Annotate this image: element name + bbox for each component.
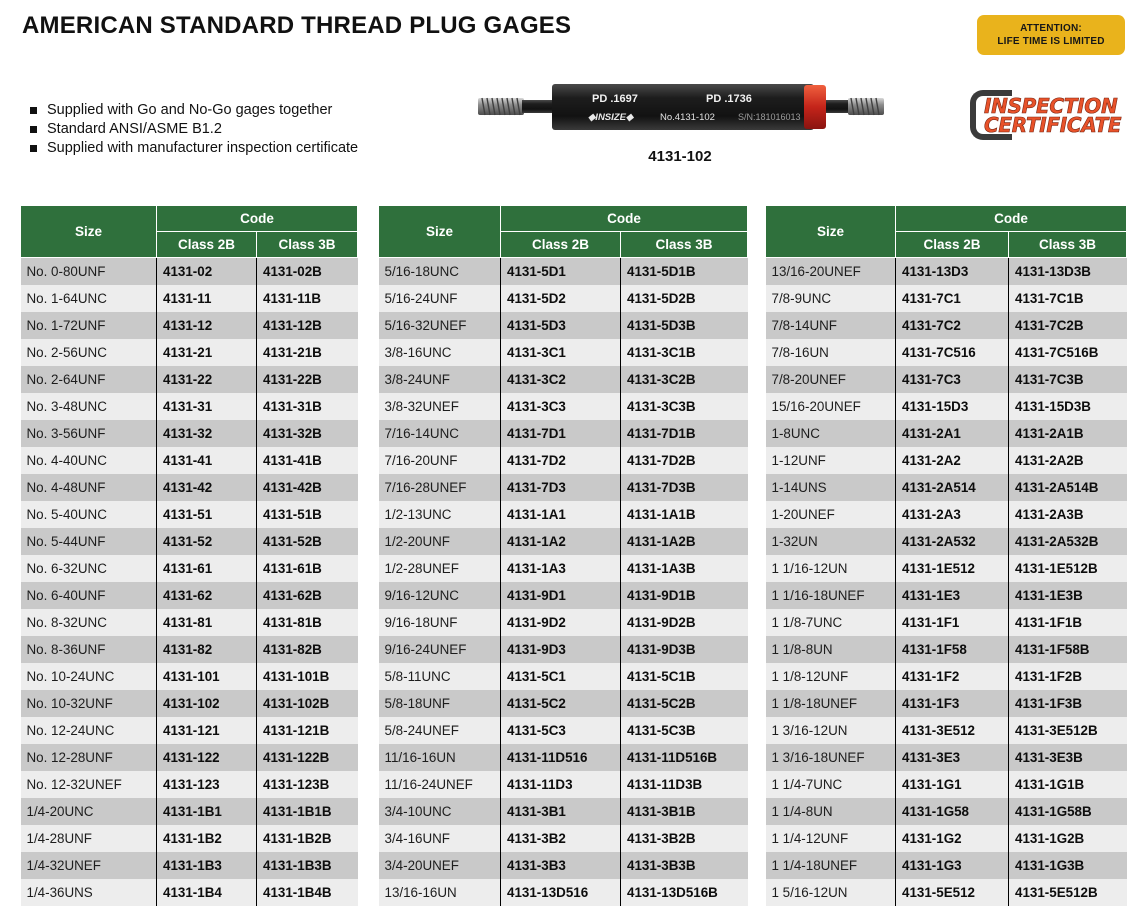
cell-code-class-3b: 4131-32B xyxy=(257,420,358,447)
cell-code-class-2b: 4131-9D3 xyxy=(501,636,621,663)
table-row: 7/16-20UNF4131-7D24131-7D2B xyxy=(379,447,748,474)
cell-code-class-2b: 4131-121 xyxy=(157,717,257,744)
table-row: 1 1/16-12UN4131-1E5124131-1E512B xyxy=(766,555,1127,582)
cell-code-class-2b: 4131-1A3 xyxy=(501,555,621,582)
cell-code-class-3b: 4131-1B1B xyxy=(257,798,358,825)
table-row: No. 1-72UNF4131-124131-12B xyxy=(21,312,358,339)
cell-code-class-3b: 4131-13D3B xyxy=(1009,258,1127,286)
cell-size: 5/16-24UNF xyxy=(379,285,501,312)
cell-code-class-3b: 4131-1F1B xyxy=(1009,609,1127,636)
table-row: No. 12-28UNF4131-1224131-122B xyxy=(21,744,358,771)
cell-code-class-3b: 4131-1A2B xyxy=(621,528,748,555)
cell-code-class-3b: 4131-7D2B xyxy=(621,447,748,474)
table-row: 3/8-24UNF4131-3C24131-3C2B xyxy=(379,366,748,393)
cell-code-class-2b: 4131-1A2 xyxy=(501,528,621,555)
cell-code-class-3b: 4131-1B4B xyxy=(257,879,358,906)
table-row: 1 1/4-7UNC4131-1G14131-1G1B xyxy=(766,771,1127,798)
feature-text: Standard ANSI/ASME B1.2 xyxy=(47,121,222,137)
cell-code-class-2b: 4131-1A1 xyxy=(501,501,621,528)
cell-code-class-3b: 4131-7D3B xyxy=(621,474,748,501)
cell-size: 1 3/16-12UN xyxy=(766,717,896,744)
cell-code-class-2b: 4131-31 xyxy=(157,393,257,420)
table-row: No. 4-40UNC4131-414131-41B xyxy=(21,447,358,474)
table-row: 1 3/16-12UN4131-3E5124131-3E512B xyxy=(766,717,1127,744)
table-row: No. 5-44UNF4131-524131-52B xyxy=(21,528,358,555)
cell-code-class-2b: 4131-1G1 xyxy=(896,771,1009,798)
column-header-code: Code xyxy=(501,206,748,232)
cell-code-class-2b: 4131-3E512 xyxy=(896,717,1009,744)
cell-code-class-2b: 4131-1F3 xyxy=(896,690,1009,717)
cell-size: No. 2-64UNF xyxy=(21,366,157,393)
table-row: No. 5-40UNC4131-514131-51B xyxy=(21,501,358,528)
cell-code-class-3b: 4131-1E512B xyxy=(1009,555,1127,582)
cell-code-class-3b: 4131-7C3B xyxy=(1009,366,1127,393)
table-row: 1/4-28UNF4131-1B24131-1B2B xyxy=(21,825,358,852)
column-header-class-3b: Class 3B xyxy=(257,232,358,258)
product-figure: PD .1697 PD .1736 ◆INSIZE◆ No.4131-102 S… xyxy=(470,76,890,172)
cell-code-class-3b: 4131-5C2B xyxy=(621,690,748,717)
table-row: No. 6-32UNC4131-614131-61B xyxy=(21,555,358,582)
cell-size: No. 8-36UNF xyxy=(21,636,157,663)
table-row: 7/16-28UNEF4131-7D34131-7D3B xyxy=(379,474,748,501)
table-body: 5/16-18UNC4131-5D14131-5D1B5/16-24UNF413… xyxy=(379,258,748,906)
cell-size: 7/16-14UNC xyxy=(379,420,501,447)
cell-code-class-2b: 4131-11 xyxy=(157,285,257,312)
table-row: 3/4-10UNC4131-3B14131-3B1B xyxy=(379,798,748,825)
cell-code-class-2b: 4131-5D2 xyxy=(501,285,621,312)
table-row: No. 3-56UNF4131-324131-32B xyxy=(21,420,358,447)
table-row: No. 8-32UNC4131-814131-81B xyxy=(21,609,358,636)
cell-code-class-3b: 4131-123B xyxy=(257,771,358,798)
cell-size: No. 0-80UNF xyxy=(21,258,157,286)
cell-code-class-3b: 4131-41B xyxy=(257,447,358,474)
cell-code-class-3b: 4131-2A514B xyxy=(1009,474,1127,501)
cell-code-class-3b: 4131-1G1B xyxy=(1009,771,1127,798)
cell-code-class-3b: 4131-3B3B xyxy=(621,852,748,879)
left-thread-segment xyxy=(478,98,524,115)
cell-code-class-2b: 4131-1B4 xyxy=(157,879,257,906)
cell-size: 1/4-36UNS xyxy=(21,879,157,906)
cell-code-class-2b: 4131-11D3 xyxy=(501,771,621,798)
cell-code-class-2b: 4131-41 xyxy=(157,447,257,474)
marking-serial: S/N:181016013 xyxy=(738,112,801,122)
cell-code-class-3b: 4131-3C1B xyxy=(621,339,748,366)
cell-code-class-2b: 4131-9D1 xyxy=(501,582,621,609)
cell-code-class-2b: 4131-102 xyxy=(157,690,257,717)
table-row: No. 2-64UNF4131-224131-22B xyxy=(21,366,358,393)
cell-size: 7/16-28UNEF xyxy=(379,474,501,501)
table-row: No. 8-36UNF4131-824131-82B xyxy=(21,636,358,663)
cell-size: No. 6-32UNC xyxy=(21,555,157,582)
cell-code-class-3b: 4131-101B xyxy=(257,663,358,690)
cell-code-class-3b: 4131-31B xyxy=(257,393,358,420)
cell-code-class-3b: 4131-1F3B xyxy=(1009,690,1127,717)
attention-badge: ATTENTION: LIFE TIME IS LIMITED xyxy=(977,15,1125,55)
cell-code-class-2b: 4131-7C1 xyxy=(896,285,1009,312)
cell-code-class-2b: 4131-3C3 xyxy=(501,393,621,420)
cell-code-class-3b: 4131-11D3B xyxy=(621,771,748,798)
cell-code-class-2b: 4131-9D2 xyxy=(501,609,621,636)
table-row: 1 5/16-12UN4131-5E5124131-5E512B xyxy=(766,879,1127,906)
cell-code-class-3b: 4131-82B xyxy=(257,636,358,663)
table-row: No. 2-56UNC4131-214131-21B xyxy=(21,339,358,366)
cell-size: 1 1/4-8UN xyxy=(766,798,896,825)
table-row: 1 1/8-8UN4131-1F584131-1F58B xyxy=(766,636,1127,663)
table-row: 1/2-20UNF4131-1A24131-1A2B xyxy=(379,528,748,555)
cell-code-class-3b: 4131-1G58B xyxy=(1009,798,1127,825)
cell-code-class-2b: 4131-1B2 xyxy=(157,825,257,852)
feature-text: Supplied with manufacturer inspection ce… xyxy=(47,140,358,156)
cell-size: 1 1/8-12UNF xyxy=(766,663,896,690)
cell-code-class-2b: 4131-13D516 xyxy=(501,879,621,906)
cell-code-class-2b: 4131-11D516 xyxy=(501,744,621,771)
cell-code-class-3b: 4131-15D3B xyxy=(1009,393,1127,420)
cell-code-class-3b: 4131-1F58B xyxy=(1009,636,1127,663)
cell-size: No. 5-44UNF xyxy=(21,528,157,555)
marking-pd-left: PD .1697 xyxy=(592,93,638,105)
cell-code-class-2b: 4131-32 xyxy=(157,420,257,447)
column-header-class-3b: Class 3B xyxy=(1009,232,1127,258)
cell-code-class-2b: 4131-1B1 xyxy=(157,798,257,825)
cell-size: 1-14UNS xyxy=(766,474,896,501)
table-row: 5/16-32UNEF4131-5D34131-5D3B xyxy=(379,312,748,339)
column-header-size: Size xyxy=(21,206,157,258)
cell-code-class-2b: 4131-62 xyxy=(157,582,257,609)
gage-code-table-3: Size Code Class 2B Class 3B 13/16-20UNEF… xyxy=(765,205,1127,906)
cell-code-class-2b: 4131-3B1 xyxy=(501,798,621,825)
cell-size: 1/2-20UNF xyxy=(379,528,501,555)
table-body: 13/16-20UNEF4131-13D34131-13D3B7/8-9UNC4… xyxy=(766,258,1127,906)
cell-code-class-3b: 4131-3E3B xyxy=(1009,744,1127,771)
column-header-class-2b: Class 2B xyxy=(157,232,257,258)
cell-size: 7/16-20UNF xyxy=(379,447,501,474)
cell-code-class-3b: 4131-1B2B xyxy=(257,825,358,852)
cell-code-class-2b: 4131-7D1 xyxy=(501,420,621,447)
cell-code-class-3b: 4131-1F2B xyxy=(1009,663,1127,690)
table-row: No. 1-64UNC4131-114131-11B xyxy=(21,285,358,312)
cell-size: 7/8-14UNF xyxy=(766,312,896,339)
right-thread-segment xyxy=(848,98,884,115)
cell-code-class-2b: 4131-3B2 xyxy=(501,825,621,852)
feature-list: Supplied with Go and No-Go gages togethe… xyxy=(30,101,358,158)
cell-size: 1 5/16-12UN xyxy=(766,879,896,906)
table-row: 1 3/16-18UNEF4131-3E34131-3E3B xyxy=(766,744,1127,771)
gage-code-table-2: Size Code Class 2B Class 3B 5/16-18UNC41… xyxy=(378,205,748,906)
table-row: 1 1/4-12UNF4131-1G24131-1G2B xyxy=(766,825,1127,852)
cell-code-class-2b: 4131-1F58 xyxy=(896,636,1009,663)
cell-code-class-3b: 4131-1A3B xyxy=(621,555,748,582)
table-row: 1/4-20UNC4131-1B14131-1B1B xyxy=(21,798,358,825)
column-header-code: Code xyxy=(157,206,358,232)
cell-size: 13/16-20UNEF xyxy=(766,258,896,286)
gage-code-table-1: Size Code Class 2B Class 3B No. 0-80UNF4… xyxy=(20,205,358,906)
cell-size: 3/8-32UNEF xyxy=(379,393,501,420)
cell-size: 9/16-18UNF xyxy=(379,609,501,636)
cell-code-class-3b: 4131-7C516B xyxy=(1009,339,1127,366)
table-row: 3/4-16UNF4131-3B24131-3B2B xyxy=(379,825,748,852)
cell-code-class-3b: 4131-1G2B xyxy=(1009,825,1127,852)
cell-size: 1/4-32UNEF xyxy=(21,852,157,879)
table-row: 7/8-20UNEF4131-7C34131-7C3B xyxy=(766,366,1127,393)
cell-code-class-2b: 4131-7C2 xyxy=(896,312,1009,339)
cell-code-class-3b: 4131-121B xyxy=(257,717,358,744)
table-row: 9/16-24UNEF4131-9D34131-9D3B xyxy=(379,636,748,663)
cell-code-class-3b: 4131-3C2B xyxy=(621,366,748,393)
marking-model: No.4131-102 xyxy=(660,112,715,123)
cell-code-class-3b: 4131-13D516B xyxy=(621,879,748,906)
cell-code-class-2b: 4131-101 xyxy=(157,663,257,690)
cell-code-class-2b: 4131-61 xyxy=(157,555,257,582)
square-bullet-icon xyxy=(30,107,37,114)
cell-code-class-2b: 4131-1G3 xyxy=(896,852,1009,879)
cell-code-class-3b: 4131-122B xyxy=(257,744,358,771)
cell-size: 13/16-16UN xyxy=(379,879,501,906)
column-header-class-2b: Class 2B xyxy=(501,232,621,258)
red-collar xyxy=(804,85,826,129)
cell-code-class-2b: 4131-123 xyxy=(157,771,257,798)
cell-size: 7/8-16UN xyxy=(766,339,896,366)
cell-code-class-3b: 4131-61B xyxy=(257,555,358,582)
table-row: 1/2-28UNEF4131-1A34131-1A3B xyxy=(379,555,748,582)
cell-size: No. 6-40UNF xyxy=(21,582,157,609)
cell-size: No. 2-56UNC xyxy=(21,339,157,366)
table-row: No. 10-24UNC4131-1014131-101B xyxy=(21,663,358,690)
cell-size: 7/8-20UNEF xyxy=(766,366,896,393)
inspection-line-2: CERTIFICATE xyxy=(984,113,1121,137)
cell-size: No. 4-40UNC xyxy=(21,447,157,474)
cell-size: 3/8-24UNF xyxy=(379,366,501,393)
table-row: 1 1/4-18UNEF4131-1G34131-1G3B xyxy=(766,852,1127,879)
product-code-label: 4131-102 xyxy=(470,148,890,165)
table-row: No. 12-32UNEF4131-1234131-123B xyxy=(21,771,358,798)
table-row: 5/8-18UNF4131-5C24131-5C2B xyxy=(379,690,748,717)
cell-size: 1/2-13UNC xyxy=(379,501,501,528)
cell-size: 1/4-28UNF xyxy=(21,825,157,852)
cell-size: 1 1/8-18UNEF xyxy=(766,690,896,717)
cell-size: 1 1/16-18UNEF xyxy=(766,582,896,609)
table-row: 1 1/4-8UN4131-1G584131-1G58B xyxy=(766,798,1127,825)
cell-size: 3/4-16UNF xyxy=(379,825,501,852)
table-row: 1-8UNC4131-2A14131-2A1B xyxy=(766,420,1127,447)
table-row: 3/4-20UNEF4131-3B34131-3B3B xyxy=(379,852,748,879)
cell-code-class-3b: 4131-81B xyxy=(257,609,358,636)
cell-code-class-2b: 4131-2A1 xyxy=(896,420,1009,447)
cell-code-class-2b: 4131-12 xyxy=(157,312,257,339)
column-header-size: Size xyxy=(766,206,896,258)
cell-size: 1-12UNF xyxy=(766,447,896,474)
gage-body xyxy=(552,84,814,130)
attention-line-1: ATTENTION: xyxy=(1020,22,1082,35)
cell-code-class-2b: 4131-42 xyxy=(157,474,257,501)
cell-code-class-3b: 4131-2A3B xyxy=(1009,501,1127,528)
table-row: 1 1/16-18UNEF4131-1E34131-1E3B xyxy=(766,582,1127,609)
cell-code-class-3b: 4131-9D2B xyxy=(621,609,748,636)
cell-size: No. 10-24UNC xyxy=(21,663,157,690)
cell-size: 1/2-28UNEF xyxy=(379,555,501,582)
cell-size: 5/8-11UNC xyxy=(379,663,501,690)
cell-size: 5/16-18UNC xyxy=(379,258,501,286)
cell-code-class-3b: 4131-5C1B xyxy=(621,663,748,690)
table-row: 13/16-16UN4131-13D5164131-13D516B xyxy=(379,879,748,906)
cell-code-class-2b: 4131-2A532 xyxy=(896,528,1009,555)
table-row: No. 12-24UNC4131-1214131-121B xyxy=(21,717,358,744)
cell-size: 15/16-20UNEF xyxy=(766,393,896,420)
cell-size: 1 1/8-7UNC xyxy=(766,609,896,636)
table-row: 3/8-16UNC4131-3C14131-3C1B xyxy=(379,339,748,366)
cell-size: 3/4-10UNC xyxy=(379,798,501,825)
table-row: 7/8-16UN4131-7C5164131-7C516B xyxy=(766,339,1127,366)
table-row: 1-20UNEF4131-2A34131-2A3B xyxy=(766,501,1127,528)
cell-size: 1-20UNEF xyxy=(766,501,896,528)
cell-code-class-2b: 4131-52 xyxy=(157,528,257,555)
cell-size: No. 3-56UNF xyxy=(21,420,157,447)
cell-size: 3/8-16UNC xyxy=(379,339,501,366)
cell-size: 1 1/8-8UN xyxy=(766,636,896,663)
column-header-size: Size xyxy=(379,206,501,258)
cell-code-class-2b: 4131-3E3 xyxy=(896,744,1009,771)
cell-size: No. 5-40UNC xyxy=(21,501,157,528)
table-row: No. 10-32UNF4131-1024131-102B xyxy=(21,690,358,717)
table-row: 7/16-14UNC4131-7D14131-7D1B xyxy=(379,420,748,447)
cell-code-class-2b: 4131-5C3 xyxy=(501,717,621,744)
table-row: 1/4-36UNS4131-1B44131-1B4B xyxy=(21,879,358,906)
page-title: AMERICAN STANDARD THREAD PLUG GAGES xyxy=(22,12,571,40)
cell-size: 1 1/4-7UNC xyxy=(766,771,896,798)
cell-code-class-3b: 4131-1E3B xyxy=(1009,582,1127,609)
table-row: 1 1/8-7UNC4131-1F14131-1F1B xyxy=(766,609,1127,636)
cell-code-class-3b: 4131-102B xyxy=(257,690,358,717)
cell-code-class-2b: 4131-3B3 xyxy=(501,852,621,879)
cell-code-class-2b: 4131-7C516 xyxy=(896,339,1009,366)
table-row: 9/16-18UNF4131-9D24131-9D2B xyxy=(379,609,748,636)
cell-code-class-2b: 4131-5C1 xyxy=(501,663,621,690)
cell-code-class-3b: 4131-7C1B xyxy=(1009,285,1127,312)
cell-code-class-2b: 4131-1F2 xyxy=(896,663,1009,690)
cell-size: 9/16-12UNC xyxy=(379,582,501,609)
table-row: 1-14UNS4131-2A5144131-2A514B xyxy=(766,474,1127,501)
cell-code-class-3b: 4131-7C2B xyxy=(1009,312,1127,339)
list-item: Standard ANSI/ASME B1.2 xyxy=(30,120,358,139)
cell-code-class-2b: 4131-3C2 xyxy=(501,366,621,393)
cell-code-class-2b: 4131-1B3 xyxy=(157,852,257,879)
cell-code-class-2b: 4131-5C2 xyxy=(501,690,621,717)
cell-size: 1/4-20UNC xyxy=(21,798,157,825)
table-body: No. 0-80UNF4131-024131-02BNo. 1-64UNC413… xyxy=(21,258,358,906)
table-row: No. 3-48UNC4131-314131-31B xyxy=(21,393,358,420)
cell-size: 9/16-24UNEF xyxy=(379,636,501,663)
cell-size: 5/8-18UNF xyxy=(379,690,501,717)
cell-size: No. 12-28UNF xyxy=(21,744,157,771)
feature-text: Supplied with Go and No-Go gages togethe… xyxy=(47,102,332,118)
cell-code-class-3b: 4131-5D1B xyxy=(621,258,748,286)
cell-code-class-3b: 4131-5D3B xyxy=(621,312,748,339)
cell-code-class-2b: 4131-22 xyxy=(157,366,257,393)
cell-code-class-3b: 4131-3B1B xyxy=(621,798,748,825)
cell-code-class-3b: 4131-11D516B xyxy=(621,744,748,771)
inspection-certificate-logo: INSPECTION CERTIFICATE xyxy=(970,88,1130,144)
cell-code-class-2b: 4131-7D3 xyxy=(501,474,621,501)
table-row: 7/8-14UNF4131-7C24131-7C2B xyxy=(766,312,1127,339)
cell-size: No. 10-32UNF xyxy=(21,690,157,717)
cell-code-class-3b: 4131-62B xyxy=(257,582,358,609)
cell-code-class-2b: 4131-1F1 xyxy=(896,609,1009,636)
column-header-class-3b: Class 3B xyxy=(621,232,748,258)
cell-code-class-3b: 4131-51B xyxy=(257,501,358,528)
thread-plug-gage-image: PD .1697 PD .1736 ◆INSIZE◆ No.4131-102 S… xyxy=(470,76,890,146)
cell-code-class-3b: 4131-42B xyxy=(257,474,358,501)
cell-code-class-3b: 4131-22B xyxy=(257,366,358,393)
table-row: 1/2-13UNC4131-1A14131-1A1B xyxy=(379,501,748,528)
cell-code-class-2b: 4131-7D2 xyxy=(501,447,621,474)
cell-code-class-2b: 4131-5D3 xyxy=(501,312,621,339)
cell-code-class-3b: 4131-2A2B xyxy=(1009,447,1127,474)
table-row: 13/16-20UNEF4131-13D34131-13D3B xyxy=(766,258,1127,286)
table-row: 5/8-11UNC4131-5C14131-5C1B xyxy=(379,663,748,690)
cell-code-class-2b: 4131-82 xyxy=(157,636,257,663)
table-row: 5/16-18UNC4131-5D14131-5D1B xyxy=(379,258,748,286)
cell-code-class-3b: 4131-9D1B xyxy=(621,582,748,609)
table-row: 1-32UN4131-2A5324131-2A532B xyxy=(766,528,1127,555)
cell-size: 1 1/4-12UNF xyxy=(766,825,896,852)
cell-code-class-2b: 4131-1E3 xyxy=(896,582,1009,609)
table-row: 11/16-24UNEF4131-11D34131-11D3B xyxy=(379,771,748,798)
cell-code-class-2b: 4131-13D3 xyxy=(896,258,1009,286)
cell-code-class-3b: 4131-21B xyxy=(257,339,358,366)
cell-code-class-3b: 4131-5D2B xyxy=(621,285,748,312)
cell-code-class-2b: 4131-1G58 xyxy=(896,798,1009,825)
table-row: 11/16-16UN4131-11D5164131-11D516B xyxy=(379,744,748,771)
cell-code-class-3b: 4131-2A1B xyxy=(1009,420,1127,447)
cell-code-class-3b: 4131-5E512B xyxy=(1009,879,1127,906)
list-item: Supplied with Go and No-Go gages togethe… xyxy=(30,101,358,120)
cell-code-class-3b: 4131-5C3B xyxy=(621,717,748,744)
cell-code-class-3b: 4131-3B2B xyxy=(621,825,748,852)
cell-size: 1 3/16-18UNEF xyxy=(766,744,896,771)
cell-code-class-3b: 4131-3C3B xyxy=(621,393,748,420)
cell-code-class-3b: 4131-1G3B xyxy=(1009,852,1127,879)
column-header-code: Code xyxy=(896,206,1127,232)
cell-size: No. 12-24UNC xyxy=(21,717,157,744)
cell-code-class-3b: 4131-52B xyxy=(257,528,358,555)
table-row: 5/8-24UNEF4131-5C34131-5C3B xyxy=(379,717,748,744)
cell-code-class-2b: 4131-7C3 xyxy=(896,366,1009,393)
square-bullet-icon xyxy=(30,145,37,152)
table-row: 15/16-20UNEF4131-15D34131-15D3B xyxy=(766,393,1127,420)
cell-size: 11/16-24UNEF xyxy=(379,771,501,798)
cell-code-class-3b: 4131-12B xyxy=(257,312,358,339)
cell-code-class-3b: 4131-1A1B xyxy=(621,501,748,528)
cell-code-class-2b: 4131-2A514 xyxy=(896,474,1009,501)
cell-code-class-2b: 4131-2A2 xyxy=(896,447,1009,474)
table-row: 9/16-12UNC4131-9D14131-9D1B xyxy=(379,582,748,609)
cell-size: No. 8-32UNC xyxy=(21,609,157,636)
cell-size: No. 3-48UNC xyxy=(21,393,157,420)
cell-code-class-3b: 4131-7D1B xyxy=(621,420,748,447)
cell-size: 11/16-16UN xyxy=(379,744,501,771)
cell-size: 5/8-24UNEF xyxy=(379,717,501,744)
cell-code-class-2b: 4131-1G2 xyxy=(896,825,1009,852)
table-row: No. 4-48UNF4131-424131-42B xyxy=(21,474,358,501)
cell-size: 7/8-9UNC xyxy=(766,285,896,312)
cell-code-class-3b: 4131-11B xyxy=(257,285,358,312)
cell-code-class-2b: 4131-122 xyxy=(157,744,257,771)
table-row: No. 6-40UNF4131-624131-62B xyxy=(21,582,358,609)
cell-code-class-2b: 4131-51 xyxy=(157,501,257,528)
list-item: Supplied with manufacturer inspection ce… xyxy=(30,139,358,158)
cell-code-class-2b: 4131-1E512 xyxy=(896,555,1009,582)
table-row: 5/16-24UNF4131-5D24131-5D2B xyxy=(379,285,748,312)
cell-code-class-3b: 4131-3E512B xyxy=(1009,717,1127,744)
